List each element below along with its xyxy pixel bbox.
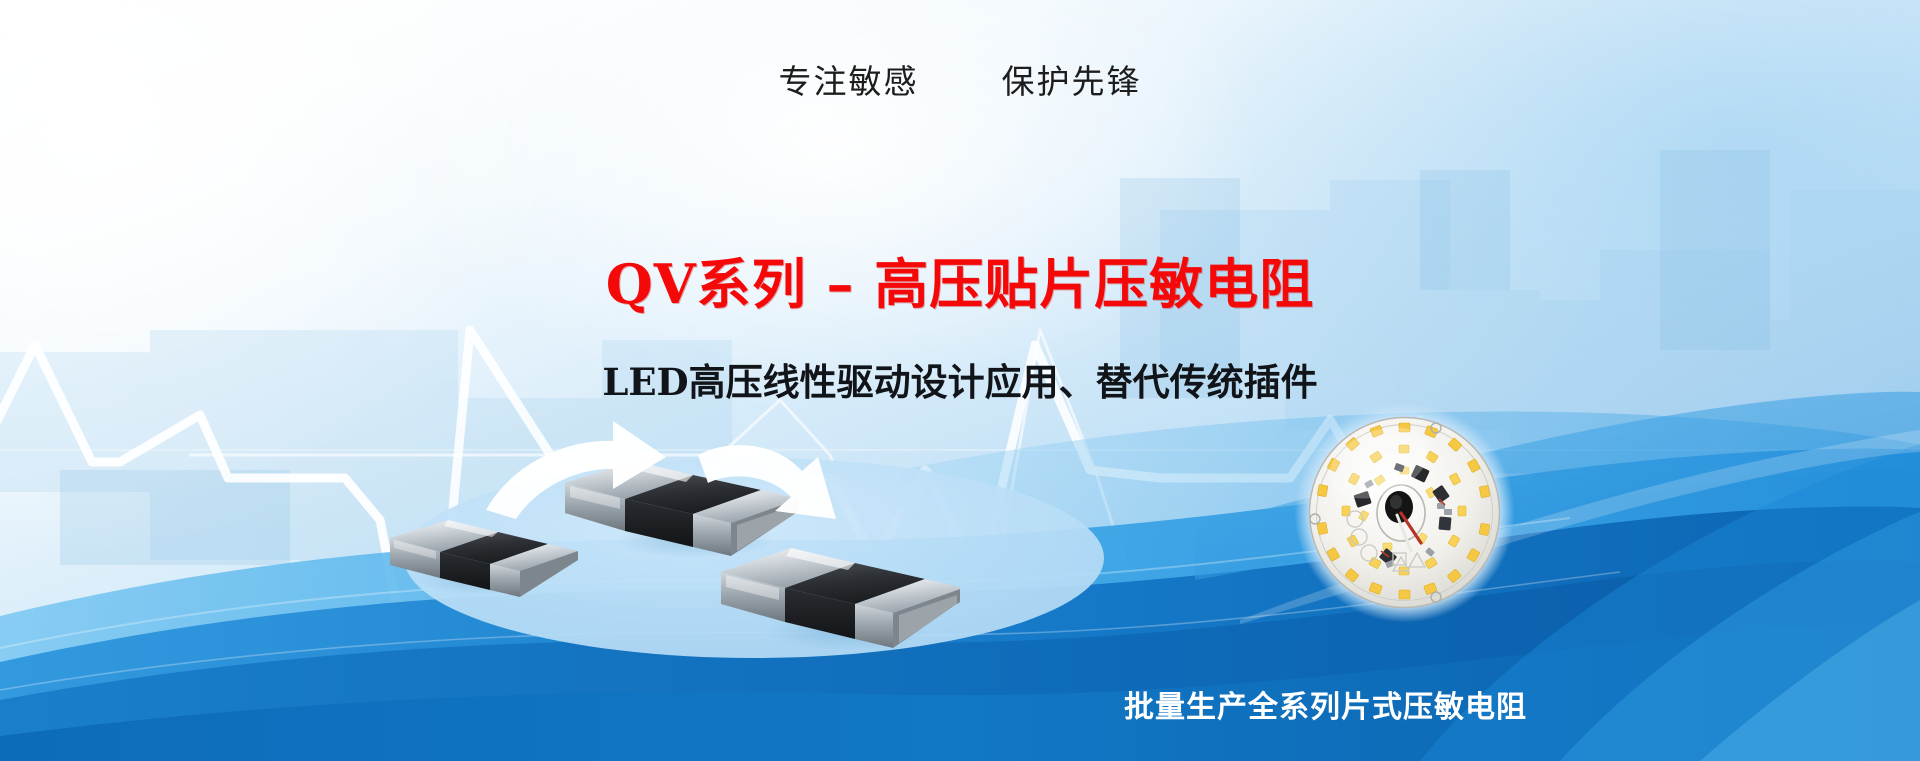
flow-arrows [470,415,890,555]
flow-arrow-1 [486,421,666,519]
banner-tagline: 专注敏感 保护先锋 [0,55,1920,103]
tagline-right: 保护先锋 [1002,62,1142,101]
flow-arrow-2 [698,445,836,519]
tagline-left: 专注敏感 [779,62,919,101]
promo-banner: 专注敏感 保护先锋 QV系列 – 高压贴片压敏电阻 LED高压线性驱动设计应用、… [0,0,1920,761]
smd-varistor-large [721,548,960,650]
banner-footnote: 批量生产全系列片式压敏电阻 [0,682,1920,726]
page-title: QV系列 – 高压贴片压敏电阻 [0,240,1920,319]
page-subtitle: LED高压线性驱动设计应用、替代传统插件 [0,352,1920,406]
round-led-pcb-module [1293,401,1516,624]
